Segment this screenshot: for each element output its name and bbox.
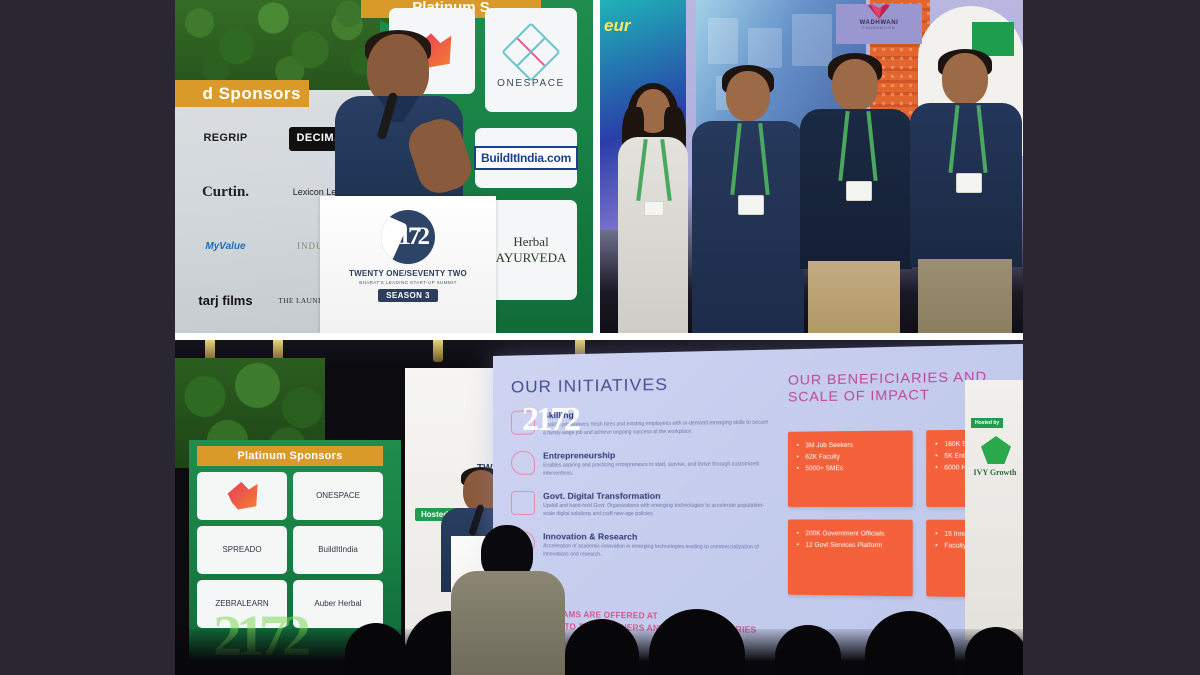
slide-initiative-item: Entrepreneurship Enables aspiring and pr… xyxy=(511,449,773,478)
logo-mark-2172: 2172 xyxy=(381,210,435,264)
sponsors-label-partial: d Sponsors xyxy=(175,80,309,107)
attendee-2-navy-polo xyxy=(692,121,804,333)
wadhwani-subtitle: FOUNDATION xyxy=(863,26,896,30)
collage-bottom-row: Platinum Sponsors ONESPACE SPREADO Build… xyxy=(175,340,1023,675)
photo-speaker-at-podium: Platinum S d Sponsors REGRIP DECIM.L Cur… xyxy=(175,0,593,333)
attendee-4-badge xyxy=(956,173,982,193)
sponsor-tile-spreado: SPREADO xyxy=(197,526,287,574)
initiative-title: Innovation & Research xyxy=(543,531,773,542)
gears-icon xyxy=(511,491,535,515)
attendee-2 xyxy=(692,65,804,333)
seated-attendee-shirt xyxy=(451,571,565,675)
logo-curtin: Curtin. xyxy=(183,172,268,214)
attendee-2-badge xyxy=(738,195,764,215)
podium-panel: 2172 TWENTY ONE/SEVENTY TWO BHARAT'S LEA… xyxy=(320,196,496,333)
seated-attendee xyxy=(447,525,569,675)
podium-2172-logo: 2172 TWENTY ONE/SEVENTY TWO BHARAT'S LEA… xyxy=(320,196,496,302)
stat-item: 200K Government Officials xyxy=(797,528,904,540)
sponsor-tile-onespace: ONESPACE xyxy=(293,472,383,520)
logo-ivy-growth: IVY Growth xyxy=(970,468,1020,477)
logo-herbal: Herbal AYURVEDA xyxy=(485,234,577,266)
stat-box: 3M Job Seekers 62K Faculty 5000+ SMEs xyxy=(788,430,913,507)
initiative-description: Upskill and hand-hold Govt. Organization… xyxy=(543,503,773,519)
rocket-icon xyxy=(511,451,535,475)
brand-tagline: BHARAT'S LEADING START-UP SUMMIT xyxy=(359,280,457,285)
logo-tarj-films: tarj films xyxy=(183,280,268,322)
photo-stage-presentation: Platinum Sponsors ONESPACE SPREADO Build… xyxy=(175,340,1023,675)
collage-top-row: Platinum S d Sponsors REGRIP DECIM.L Cur… xyxy=(175,0,1023,333)
right-board-hosted-by-label: Hosted by xyxy=(971,418,1003,428)
attendee-4 xyxy=(910,49,1022,333)
platinum-sponsors-header: Platinum Sponsors xyxy=(197,446,383,466)
stat-item: 62K Faculty xyxy=(797,452,904,465)
wadhwani-foundation-logo: WADHWANI FOUNDATION xyxy=(836,4,922,44)
stat-item: 5000+ SMEs xyxy=(797,464,904,477)
attendee-3-badge xyxy=(846,181,872,201)
stat-item: 3M Job Seekers xyxy=(797,440,904,453)
slide-initiative-text: Innovation & Research Acceleration of ac… xyxy=(543,531,773,560)
attendee-1-dress xyxy=(618,137,688,333)
page-background: Platinum S d Sponsors REGRIP DECIM.L Cur… xyxy=(0,0,1200,675)
logo-regrip: REGRIP xyxy=(183,118,268,160)
logo-builditindia: BuildItIndia.com xyxy=(474,146,578,170)
stat-item: 12 Govt Services Platform xyxy=(797,540,904,553)
brand-name: TWENTY ONE/SEVENTY TWO xyxy=(349,269,467,278)
backdrop-photo-block xyxy=(748,28,782,68)
attendee-4-trousers xyxy=(918,259,1012,333)
attendee-2-head xyxy=(726,71,770,121)
logo-tile-herbal: Herbal AYURVEDA xyxy=(485,200,577,300)
sponsor-tile-builditindia: BuildItIndia xyxy=(293,526,383,574)
stat-box: 200K Government Officials 12 Govt Servic… xyxy=(788,519,913,596)
projection-screen: OUR INITIATIVES Skilling Upskills job-se… xyxy=(493,343,1023,674)
logo-myvalue: MyValue xyxy=(183,226,268,268)
photo-attendees-group: eur WADHWANI FOUNDATION xyxy=(600,0,1023,333)
attendee-1-badge xyxy=(644,201,664,216)
backdrop-photo-block xyxy=(708,18,738,64)
attendee-3-head xyxy=(832,59,878,111)
photo-collage: Platinum S d Sponsors REGRIP DECIM.L Cur… xyxy=(175,0,1023,675)
attendee-3 xyxy=(800,53,912,333)
initiative-description: Acceleration of academic innovation in e… xyxy=(543,543,773,560)
attendee-4-head xyxy=(942,53,988,105)
slide-initiative-item: Govt. Digital Transformation Upskill and… xyxy=(511,490,773,518)
season-badge: SEASON 3 xyxy=(378,289,438,302)
sponsor-tile-wrapnearn xyxy=(197,472,287,520)
slide-title-initiatives: OUR INITIATIVES xyxy=(511,373,773,398)
wrapnearn-mark-icon xyxy=(225,480,259,512)
initiative-title: Govt. Digital Transformation xyxy=(543,490,773,501)
spotlight-icon xyxy=(433,340,443,362)
slide-initiative-text: Entrepreneurship Enables aspiring and pr… xyxy=(543,449,773,478)
logo-tile-onespace: ONESPACE xyxy=(485,8,577,112)
initiative-description: Enables aspiring and practicing entrepre… xyxy=(543,461,773,478)
backdrop-heading-partial: eur xyxy=(604,16,630,36)
initiative-title: Entrepreneurship xyxy=(543,449,773,461)
onespace-diamond-icon xyxy=(501,22,560,81)
attendee-1 xyxy=(614,83,692,333)
wadhwani-fan-icon xyxy=(868,4,890,19)
attendee-3-khaki-trousers xyxy=(808,261,900,333)
logo-tile-builditindia: BuildItIndia.com xyxy=(475,128,577,188)
slide-initiative-text: Govt. Digital Transformation Upskill and… xyxy=(543,490,773,518)
